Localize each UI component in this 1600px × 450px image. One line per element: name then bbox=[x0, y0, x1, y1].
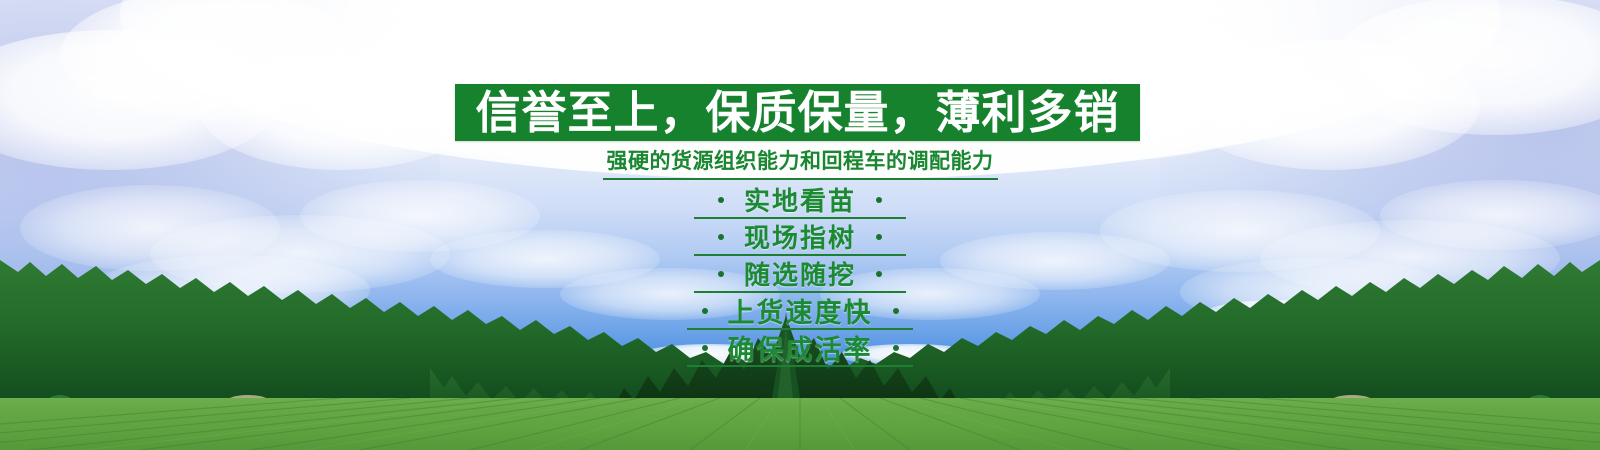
feature-item-5: 确保成活率 bbox=[0, 329, 1600, 366]
dot-icon bbox=[702, 345, 708, 351]
feature-divider bbox=[687, 365, 913, 367]
feature-label: 上货速度快 bbox=[728, 291, 873, 330]
field-furrows bbox=[0, 398, 1600, 450]
subtitle-text: 强硬的货源组织能力和回程车的调配能力 bbox=[603, 145, 998, 180]
dot-icon bbox=[876, 234, 882, 240]
dot-icon bbox=[718, 271, 724, 277]
feature-item-4: 上货速度快 bbox=[0, 292, 1600, 329]
dot-icon bbox=[893, 345, 899, 351]
feature-item-3: 随选随挖 bbox=[0, 255, 1600, 292]
dot-icon bbox=[876, 197, 882, 203]
feature-list: 实地看苗 现场指树 随选随挖 上货速度快 bbox=[0, 181, 1600, 366]
feature-label: 随选随挖 bbox=[744, 255, 856, 292]
headline-text: 信誉至上，保质保量，薄利多销 bbox=[475, 90, 1119, 135]
dot-icon bbox=[718, 197, 724, 203]
dot-icon bbox=[702, 308, 708, 314]
feature-label: 实地看苗 bbox=[744, 181, 856, 218]
feature-item-1: 实地看苗 bbox=[0, 181, 1600, 218]
subtitle-container: 强硬的货源组织能力和回程车的调配能力 bbox=[0, 145, 1600, 180]
promo-banner: 信誉至上，保质保量，薄利多销 强硬的货源组织能力和回程车的调配能力 实地看苗 现… bbox=[0, 0, 1600, 450]
dot-icon bbox=[893, 308, 899, 314]
dot-icon bbox=[718, 234, 724, 240]
feature-item-2: 现场指树 bbox=[0, 218, 1600, 255]
feature-label: 确保成活率 bbox=[728, 328, 873, 367]
headline-bar: 信誉至上，保质保量，薄利多销 bbox=[455, 84, 1140, 141]
dot-icon bbox=[876, 271, 882, 277]
feature-label: 现场指树 bbox=[744, 218, 856, 255]
